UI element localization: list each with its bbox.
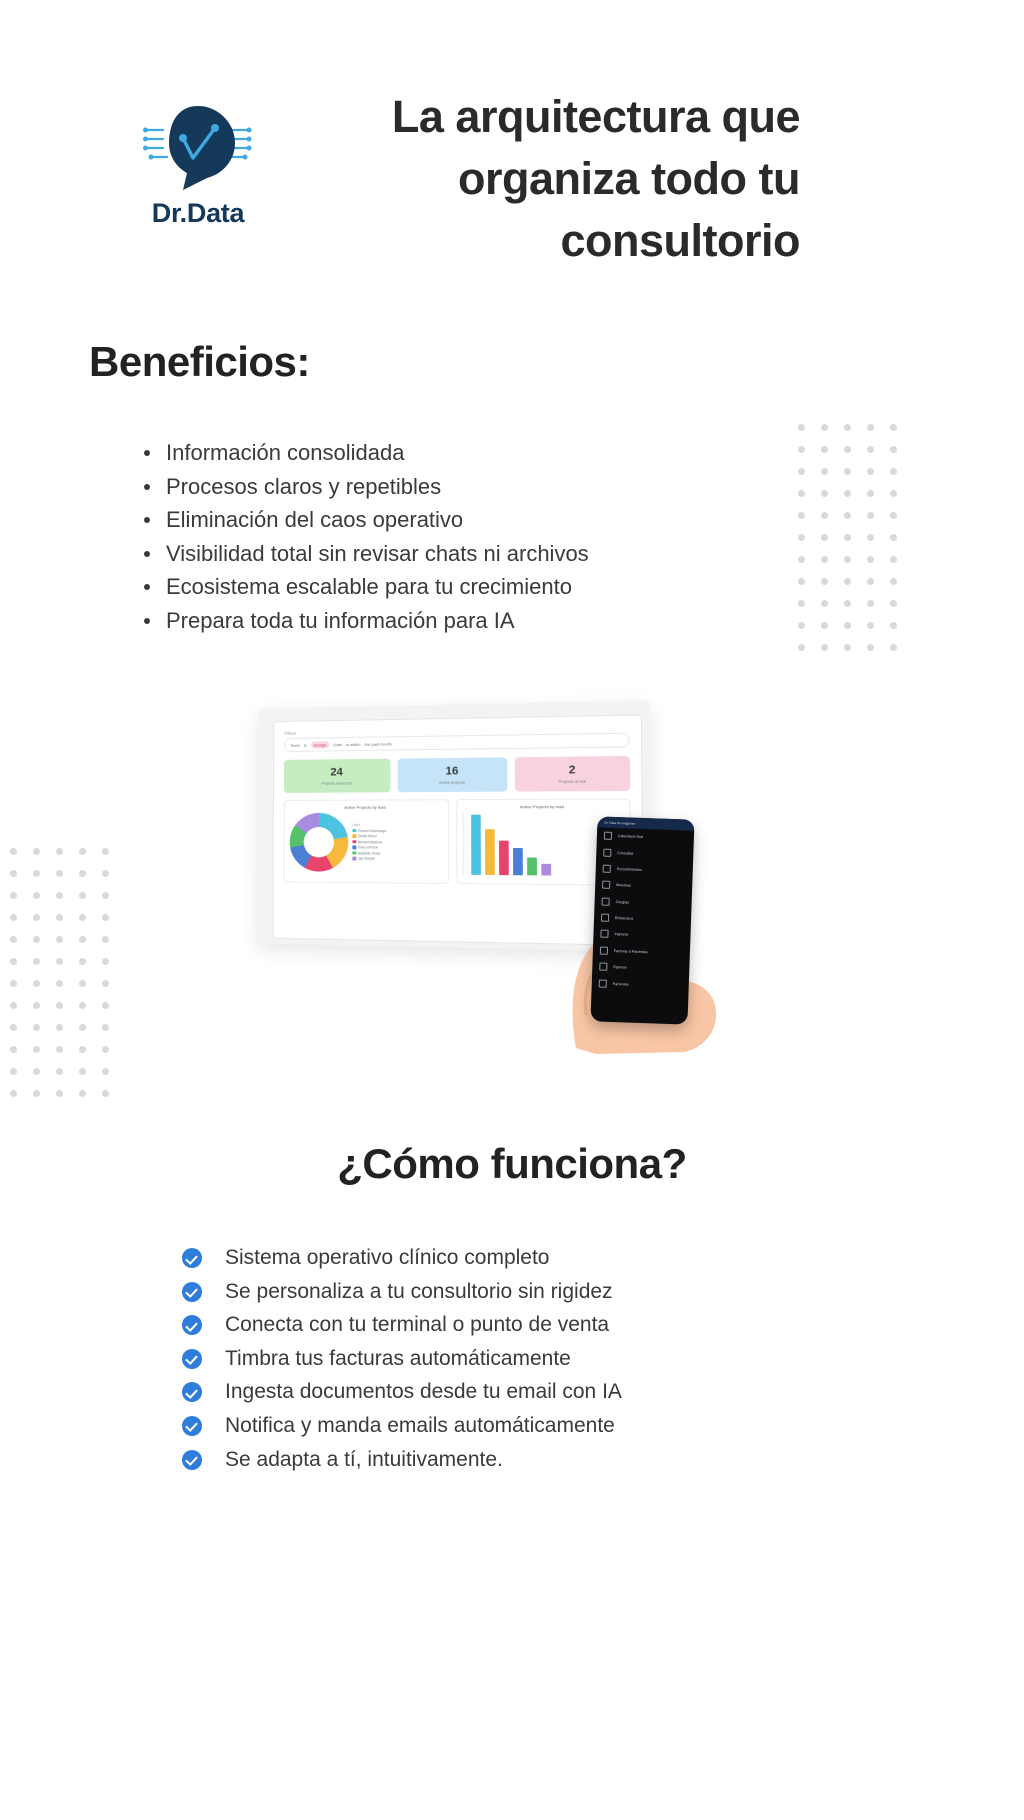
dot bbox=[79, 936, 86, 943]
how-it-works-list: Sistema operativo clínico completo Se pe… bbox=[178, 1241, 898, 1476]
phone-menu-label: Cirugías bbox=[616, 900, 630, 904]
list-item: Visibilidad total sin revisar chats ni a… bbox=[140, 537, 840, 571]
dot bbox=[102, 892, 109, 899]
dot bbox=[10, 1024, 17, 1031]
benefit-label: Visibilidad total sin revisar chats ni a… bbox=[166, 541, 589, 566]
kpi-value: 24 bbox=[284, 767, 390, 779]
dot bbox=[10, 1002, 17, 1009]
dot bbox=[844, 446, 851, 453]
dot bbox=[79, 958, 86, 965]
dot bbox=[102, 936, 109, 943]
filter-pill[interactable]: Date bbox=[333, 742, 342, 747]
legend-swatch bbox=[352, 829, 356, 833]
dashboard-filters: Filters Team is Design Date is within th… bbox=[284, 725, 630, 752]
dot bbox=[79, 870, 86, 877]
dot bbox=[10, 914, 17, 921]
check-circle-icon bbox=[182, 1248, 202, 1268]
dot bbox=[33, 1046, 40, 1053]
legend-label: Kara Johnson bbox=[358, 845, 378, 849]
chart-title: Active Projects by lead bbox=[290, 804, 442, 810]
dot bbox=[33, 936, 40, 943]
list-item: Sistema operativo clínico completo bbox=[178, 1241, 898, 1275]
dot bbox=[79, 1002, 86, 1009]
dot bbox=[867, 468, 874, 475]
user-icon bbox=[599, 979, 607, 987]
list-item: Prepara toda tu información para IA bbox=[140, 604, 840, 638]
dot bbox=[56, 892, 63, 899]
phone-menu-label: Ingresos bbox=[614, 932, 628, 936]
dot bbox=[102, 1046, 109, 1053]
phone-app-title: Dr. Data de imagenes bbox=[604, 820, 635, 825]
dot bbox=[890, 556, 897, 563]
filter-pill[interactable]: the past month bbox=[365, 741, 392, 746]
dot bbox=[102, 958, 109, 965]
feature-label: Sistema operativo clínico completo bbox=[225, 1246, 550, 1269]
bar bbox=[484, 829, 494, 875]
dot bbox=[844, 644, 851, 651]
kpi-card: 2 Projects at risk bbox=[515, 756, 630, 792]
dot bbox=[890, 644, 897, 651]
dot bbox=[56, 1090, 63, 1097]
kpi-card: 16 Active projects bbox=[397, 757, 507, 792]
feature-label: Se adapta a tí, intuitivamente. bbox=[225, 1448, 503, 1471]
dot bbox=[33, 914, 40, 921]
dot bbox=[844, 468, 851, 475]
calendar-icon bbox=[604, 832, 612, 840]
feature-label: Se personaliza a tu consultorio sin rigi… bbox=[225, 1280, 613, 1303]
dot bbox=[867, 446, 874, 453]
legend-label: Adelaide Perez bbox=[358, 851, 380, 855]
list-item: Timbra tus facturas automáticamente bbox=[178, 1342, 898, 1376]
bar bbox=[512, 848, 522, 875]
dot bbox=[844, 622, 851, 629]
dot bbox=[844, 490, 851, 497]
dot bbox=[890, 446, 897, 453]
bar bbox=[541, 864, 551, 876]
benefit-label: Información consolidada bbox=[166, 440, 404, 465]
dot bbox=[102, 1068, 109, 1075]
kpi-card: 24 Projects launched bbox=[284, 759, 390, 793]
bullet-icon bbox=[144, 450, 150, 456]
dot bbox=[867, 512, 874, 519]
list-item: Notifica y manda emails automáticamente bbox=[178, 1409, 898, 1443]
dot bbox=[102, 1024, 109, 1031]
kpi-label: Active projects bbox=[397, 780, 507, 785]
brand-name: Dr.Data bbox=[118, 198, 278, 229]
brand-logo: Dr.Data bbox=[118, 102, 278, 229]
dot-grid-left bbox=[10, 848, 125, 1112]
dot bbox=[890, 600, 897, 607]
dot bbox=[10, 1090, 17, 1097]
dot bbox=[56, 1002, 63, 1009]
dollar-icon bbox=[599, 963, 607, 971]
legend-swatch bbox=[352, 840, 356, 844]
legend-swatch bbox=[352, 851, 356, 855]
check-circle-icon bbox=[182, 1450, 202, 1470]
bullet-icon bbox=[144, 484, 150, 490]
dot bbox=[56, 1024, 63, 1031]
dot bbox=[79, 1046, 86, 1053]
dot bbox=[33, 958, 40, 965]
clipboard-icon bbox=[603, 865, 611, 873]
dot bbox=[102, 1002, 109, 1009]
legend-label: Daniel Never bbox=[358, 834, 377, 838]
header: Dr.Data La arquitectura que organiza tod… bbox=[0, 86, 1024, 276]
dot bbox=[79, 1090, 86, 1097]
benefits-heading: Beneficios: bbox=[89, 338, 310, 386]
list-item: Conecta con tu terminal o punto de venta bbox=[178, 1308, 898, 1342]
dot bbox=[102, 914, 109, 921]
dot bbox=[867, 534, 874, 541]
flask-icon bbox=[602, 881, 610, 889]
dot bbox=[10, 1068, 17, 1075]
dot bbox=[821, 644, 828, 651]
dot bbox=[102, 1090, 109, 1097]
dot bbox=[33, 848, 40, 855]
dot bbox=[56, 870, 63, 877]
chart-legend: Lead Phoebe Rumbaugh Daniel Never Richar… bbox=[352, 822, 386, 862]
bullet-icon bbox=[144, 551, 150, 557]
list-item: Ingesta documentos desde tu email con IA bbox=[178, 1375, 898, 1409]
legend-label: Jay Templin bbox=[358, 857, 375, 861]
dot bbox=[10, 980, 17, 987]
how-it-works-heading: ¿Cómo funciona? bbox=[0, 1140, 1024, 1188]
dot bbox=[844, 424, 851, 431]
check-circle-icon bbox=[182, 1315, 202, 1335]
bullet-icon bbox=[144, 618, 150, 624]
dot bbox=[890, 512, 897, 519]
legend-item: Richard Branson bbox=[352, 840, 386, 844]
dot bbox=[56, 1046, 63, 1053]
chart-title: Active Projects by lead bbox=[462, 804, 624, 810]
kpi-label: Projects at risk bbox=[515, 779, 630, 784]
dot bbox=[33, 980, 40, 987]
phone-menu-label: Facturas a Pacientes bbox=[614, 949, 648, 954]
dot bbox=[844, 600, 851, 607]
bar bbox=[498, 841, 508, 876]
dollar-icon bbox=[600, 930, 608, 938]
feature-label: Ingesta documentos desde tu email con IA bbox=[225, 1380, 622, 1403]
dot bbox=[890, 534, 897, 541]
dot bbox=[79, 1024, 86, 1031]
dot bbox=[890, 468, 897, 475]
product-showcase: Filters Team is Design Date is within th… bbox=[256, 706, 756, 1086]
list-item: Eliminación del caos operativo bbox=[140, 503, 840, 537]
dot bbox=[867, 424, 874, 431]
filter-pill-active[interactable]: Design bbox=[311, 741, 330, 748]
phone-menu-label: Procedimientos bbox=[617, 867, 642, 872]
legend-swatch bbox=[352, 834, 356, 838]
legend-item: Daniel Never bbox=[352, 834, 386, 838]
donut-chart-card: Active Projects by lead Lead Phoebe Rumb… bbox=[284, 799, 449, 884]
feature-label: Timbra tus facturas automáticamente bbox=[225, 1347, 571, 1370]
filter-pill-row[interactable]: Team is Design Date is within the past m… bbox=[284, 733, 630, 752]
dot bbox=[102, 870, 109, 877]
feature-label: Conecta con tu terminal o punto de venta bbox=[225, 1313, 609, 1336]
dot bbox=[844, 512, 851, 519]
dot bbox=[867, 578, 874, 585]
list-item: Información consolidada bbox=[140, 436, 840, 470]
feature-label: Notifica y manda emails automáticamente bbox=[225, 1414, 615, 1437]
dot bbox=[867, 644, 874, 651]
dot bbox=[890, 490, 897, 497]
dot bbox=[10, 848, 17, 855]
legend-item: Phoebe Rumbaugh bbox=[352, 829, 386, 833]
bar bbox=[471, 815, 481, 875]
benefit-label: Eliminación del caos operativo bbox=[166, 507, 463, 532]
dot bbox=[56, 980, 63, 987]
dot bbox=[867, 490, 874, 497]
legend-title: Lead bbox=[352, 822, 386, 826]
list-item: Procesos claros y repetibles bbox=[140, 470, 840, 504]
filter-pill[interactable]: Team bbox=[290, 742, 300, 747]
dot bbox=[79, 1068, 86, 1075]
check-circle-icon bbox=[182, 1349, 202, 1369]
dot bbox=[844, 578, 851, 585]
phone-mockup: Dr. Data de imagenes Calendario Gral Con… bbox=[590, 816, 694, 1024]
dot bbox=[33, 892, 40, 899]
phone-menu-label: Calendario Gral bbox=[618, 834, 643, 839]
benefit-label: Ecosistema escalable para tu crecimiento bbox=[166, 574, 572, 599]
dot bbox=[867, 556, 874, 563]
dot bbox=[56, 936, 63, 943]
legend-label: Richard Branson bbox=[358, 840, 382, 844]
dot bbox=[844, 534, 851, 541]
phone-menu-item-pacientes[interactable]: Pacientes bbox=[592, 975, 690, 995]
dot bbox=[798, 424, 805, 431]
phone-menu-label: Egresos bbox=[613, 965, 626, 969]
bullet-icon bbox=[144, 517, 150, 523]
grid-icon bbox=[602, 897, 610, 905]
dot bbox=[890, 424, 897, 431]
kpi-value: 16 bbox=[397, 766, 507, 778]
filter-pill[interactable]: is bbox=[304, 742, 307, 747]
dot bbox=[79, 914, 86, 921]
dot bbox=[56, 958, 63, 965]
legend-swatch bbox=[352, 857, 356, 861]
dot bbox=[10, 958, 17, 965]
dot bbox=[890, 622, 897, 629]
dot bbox=[10, 892, 17, 899]
dot bbox=[798, 644, 805, 651]
legend-swatch bbox=[352, 846, 356, 850]
dot bbox=[79, 848, 86, 855]
dot bbox=[890, 578, 897, 585]
document-icon bbox=[600, 946, 608, 954]
dot bbox=[844, 556, 851, 563]
page-title: La arquitectura que organiza todo tu con… bbox=[300, 86, 800, 272]
check-circle-icon bbox=[182, 1382, 202, 1402]
filter-pill[interactable]: is within bbox=[346, 741, 360, 746]
dot bbox=[56, 914, 63, 921]
donut-chart bbox=[290, 813, 349, 872]
list-item: Se adapta a tí, intuitivamente. bbox=[178, 1443, 898, 1477]
phone-menu-label: Muestras bbox=[616, 883, 631, 888]
phone-menu-label: Pacientes bbox=[613, 982, 629, 987]
kpi-row: 24 Projects launched 16 Active projects … bbox=[284, 756, 630, 793]
bar bbox=[527, 857, 537, 875]
check-circle-icon bbox=[182, 1282, 202, 1302]
legend-item: Adelaide Perez bbox=[352, 851, 386, 855]
kpi-value: 2 bbox=[515, 764, 630, 777]
dot bbox=[79, 892, 86, 899]
dot bbox=[33, 1024, 40, 1031]
dot bbox=[102, 848, 109, 855]
dot bbox=[10, 870, 17, 877]
dot bbox=[102, 980, 109, 987]
benefit-label: Prepara toda tu información para IA bbox=[166, 608, 515, 633]
check-circle-icon bbox=[182, 1416, 202, 1436]
chart-icon bbox=[603, 848, 611, 856]
dot bbox=[33, 1068, 40, 1075]
dot bbox=[56, 1068, 63, 1075]
dot bbox=[867, 600, 874, 607]
dot bbox=[821, 424, 828, 431]
dot bbox=[867, 622, 874, 629]
legend-item: Jay Templin bbox=[352, 857, 386, 861]
list-item: Se personaliza a tu consultorio sin rigi… bbox=[178, 1275, 898, 1309]
legend-item: Kara Johnson bbox=[352, 845, 386, 849]
dot bbox=[33, 1090, 40, 1097]
heart-icon bbox=[601, 914, 609, 922]
dot bbox=[10, 1046, 17, 1053]
dot bbox=[56, 848, 63, 855]
phone-menu-label: Embarazos bbox=[615, 916, 633, 921]
benefits-list: Información consolidada Procesos claros … bbox=[140, 436, 840, 637]
kpi-label: Projects launched bbox=[284, 781, 390, 786]
dot bbox=[33, 870, 40, 877]
dot bbox=[79, 980, 86, 987]
bullet-icon bbox=[144, 584, 150, 590]
list-item: Ecosistema escalable para tu crecimiento bbox=[140, 570, 840, 604]
phone-menu-label: Consultas bbox=[617, 851, 633, 856]
legend-label: Phoebe Rumbaugh bbox=[358, 829, 386, 833]
drdata-chat-bubble-logo-icon bbox=[143, 102, 253, 194]
benefit-label: Procesos claros y repetibles bbox=[166, 474, 441, 499]
dot bbox=[33, 1002, 40, 1009]
dot bbox=[10, 936, 17, 943]
